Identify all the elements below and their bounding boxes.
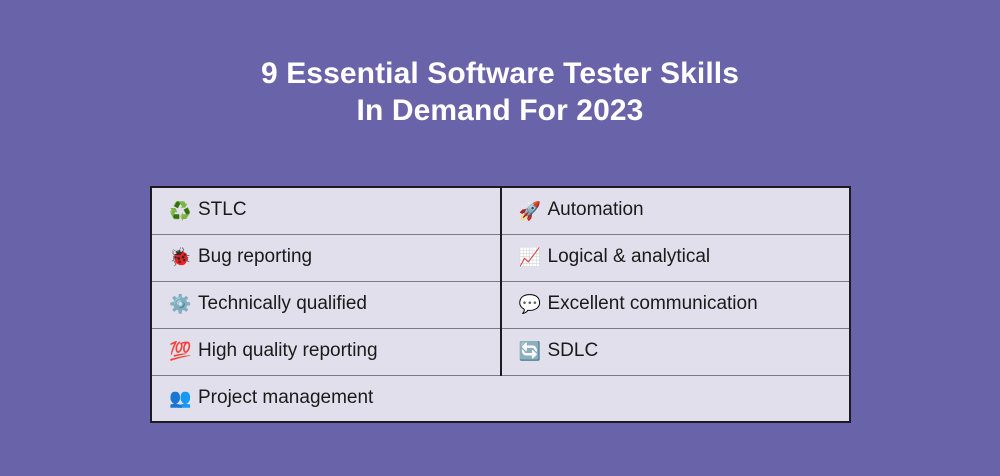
skill-label: Logical & analytical xyxy=(548,247,711,268)
table-row: 💯 High quality reporting 🔄 SDLC xyxy=(151,328,850,375)
page-title-line-2: In Demand For 2023 xyxy=(120,92,880,129)
table-row: 🐞 Bug reporting 📈 Logical & analytical xyxy=(151,234,850,281)
skill-label: Technically qualified xyxy=(198,294,367,315)
skill-cell-stlc: ♻️ STLC xyxy=(151,187,501,234)
slide-canvas: 9 Essential Software Tester Skills In De… xyxy=(0,0,1000,476)
speech-balloon-icon: 💬 xyxy=(519,295,539,313)
skill-label: Excellent communication xyxy=(548,294,758,315)
skill-cell-excellent-communication: 💬 Excellent communication xyxy=(501,281,851,328)
lady-beetle-icon: 🐞 xyxy=(169,248,189,266)
rocket-icon: 🚀 xyxy=(519,202,539,220)
skill-cell-bug-reporting: 🐞 Bug reporting xyxy=(151,234,501,281)
skill-cell-high-quality-reporting: 💯 High quality reporting xyxy=(151,328,501,375)
skill-label: High quality reporting xyxy=(198,341,378,362)
recycling-symbol-icon: ♻️ xyxy=(169,202,189,220)
skills-table-wrapper: ♻️ STLC 🚀 Automation 🐞 xyxy=(150,186,851,423)
skill-label: Project management xyxy=(198,388,373,409)
chart-increasing-icon: 📈 xyxy=(519,248,539,266)
table-row: 👥 Project management xyxy=(151,375,850,422)
table-row: ⚙️ Technically qualified 💬 Excellent com… xyxy=(151,281,850,328)
counterclockwise-arrows-icon: 🔄 xyxy=(519,342,539,360)
skill-cell-project-management: 👥 Project management xyxy=(151,375,850,422)
busts-in-silhouette-icon: 👥 xyxy=(169,389,189,407)
page-title: 9 Essential Software Tester Skills In De… xyxy=(120,55,880,129)
skill-cell-technically-qualified: ⚙️ Technically qualified xyxy=(151,281,501,328)
skill-cell-sdlc: 🔄 SDLC xyxy=(501,328,851,375)
page-title-line-1: 9 Essential Software Tester Skills xyxy=(120,55,880,92)
gear-icon: ⚙️ xyxy=(169,295,189,313)
skills-table: ♻️ STLC 🚀 Automation 🐞 xyxy=(150,186,851,423)
skill-cell-logical-analytical: 📈 Logical & analytical xyxy=(501,234,851,281)
table-row: ♻️ STLC 🚀 Automation xyxy=(151,187,850,234)
skill-label: SDLC xyxy=(548,341,599,362)
skill-label: STLC xyxy=(198,200,247,221)
skill-label: Automation xyxy=(548,200,644,221)
hundred-points-icon: 💯 xyxy=(169,342,189,360)
skill-label: Bug reporting xyxy=(198,247,312,268)
skill-cell-automation: 🚀 Automation xyxy=(501,187,851,234)
